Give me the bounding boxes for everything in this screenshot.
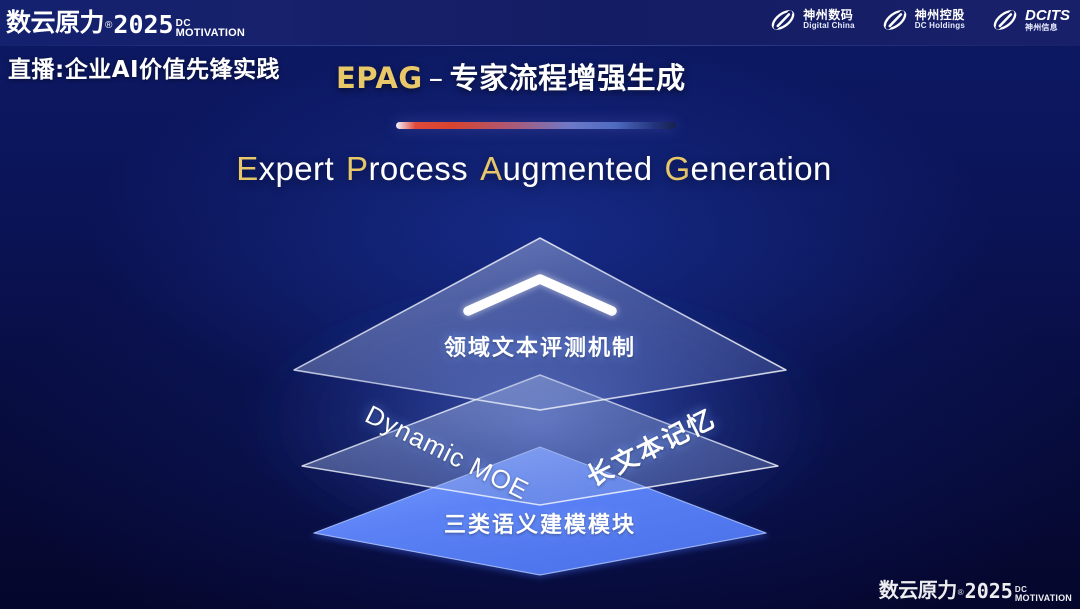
subtitle-remainder: eneration: [691, 150, 832, 187]
subtitle-initial: P: [346, 150, 368, 187]
partner-logo-dc-holdings: 神州控股 DC Holdings: [881, 6, 965, 34]
event-logo-year: 2025: [113, 10, 173, 39]
partner-logo-row: 神州数码 Digital China 神州控股 DC Holdings: [769, 6, 1070, 34]
headline-separator: –: [423, 61, 450, 95]
swirl-icon: [881, 6, 909, 34]
watermark-logo-year: 2025: [965, 579, 1013, 603]
gradient-divider: [396, 122, 676, 129]
event-logo: 数云原力 ® 2025 DC MOTIVATION: [6, 3, 245, 39]
event-logo-cn: 数云原力: [6, 3, 104, 39]
headline-chinese: 专家流程增强生成: [450, 61, 686, 95]
partner-text: 神州控股 DC Holdings: [915, 9, 965, 30]
subtitle-remainder: xpert: [259, 150, 334, 187]
partner-name-cn: DCITS: [1025, 8, 1070, 24]
stack-layer-bottom: [310, 447, 770, 578]
layer-label-long-context: 长文本记忆: [579, 398, 721, 494]
chevron-up-icon: [468, 279, 612, 311]
layer-label-dynamic-moe: Dynamic MOE: [360, 399, 534, 506]
subtitle-word: Process: [346, 150, 468, 187]
registered-mark: ®: [105, 20, 112, 31]
stack-layer-top: [294, 238, 786, 410]
partner-logo-dcits: DCITS 神州信息: [991, 6, 1070, 34]
partner-text: 神州数码 Digital China: [803, 9, 855, 30]
subtitle-initial: G: [664, 150, 690, 187]
event-logo-tag: DC MOTIVATION: [176, 19, 245, 38]
slide-canvas: 数云原力 ® 2025 DC MOTIVATION 神州数码 Digital C…: [0, 0, 1080, 609]
watermark-logo: 数云原力 ® 2025 DC MOTIVATION: [879, 574, 1072, 603]
watermark-logo-cn: 数云原力: [879, 574, 957, 603]
headline-acronym: EPAG: [336, 61, 423, 95]
event-logo-tag-line2: MOTIVATION: [176, 28, 245, 38]
partner-name-en: DC Holdings: [915, 22, 965, 30]
watermark-tag-line2: MOTIVATION: [1015, 594, 1072, 602]
swirl-icon: [991, 6, 1019, 34]
subtitle-initial: A: [480, 150, 502, 187]
swirl-icon: [769, 6, 797, 34]
subtitle-remainder: rocess: [368, 150, 468, 187]
subtitle-initial: E: [236, 150, 258, 187]
partner-name-en: Digital China: [803, 22, 855, 30]
subtitle: ExpertProcessAugmentedGeneration: [0, 150, 1080, 188]
subtitle-remainder: ugmented: [502, 150, 652, 187]
layer-label-top: 领域文本评测机制: [0, 330, 1080, 362]
watermark-logo-tag: DC MOTIVATION: [1015, 586, 1072, 602]
stack-layer-middle: [302, 375, 778, 505]
live-stream-title: 直播:企业AI价值先锋实践: [8, 50, 280, 84]
partner-name-en: 神州信息: [1025, 24, 1070, 32]
partner-text: DCITS 神州信息: [1025, 8, 1070, 32]
partner-logo-digital-china: 神州数码 Digital China: [769, 6, 855, 34]
subtitle-word: Generation: [664, 150, 831, 187]
page-title: EPAG–专家流程增强生成: [336, 55, 686, 97]
subtitle-word: Augmented: [480, 150, 652, 187]
registered-mark: ®: [958, 588, 964, 597]
layer-label-bottom: 三类语义建模模块: [0, 507, 1080, 539]
subtitle-word: Expert: [236, 150, 334, 187]
stack-glow: [240, 275, 840, 565]
